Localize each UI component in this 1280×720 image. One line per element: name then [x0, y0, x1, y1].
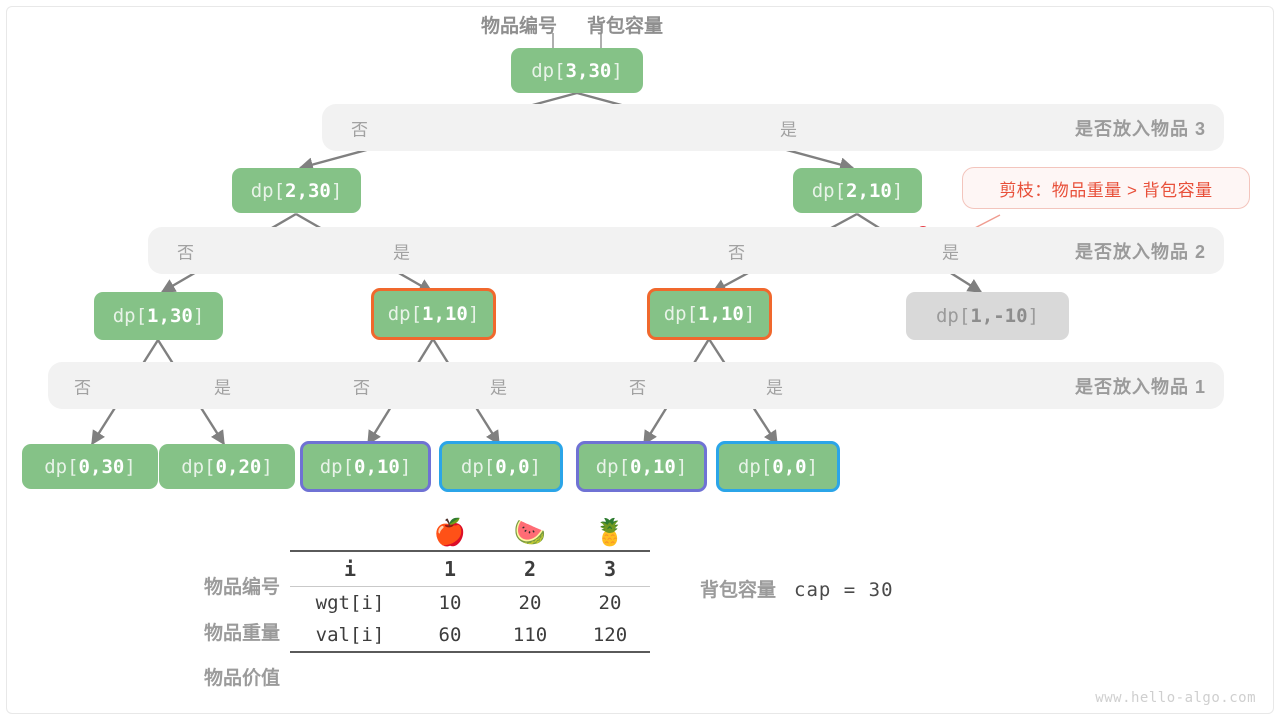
node-dp-2-30[interactable]: dp[2,30] — [232, 168, 361, 213]
node-i: 2 — [285, 180, 296, 202]
watermark: www.hello-algo.com — [1095, 690, 1256, 706]
pineapple-icon: 🍍 — [570, 520, 650, 551]
node-dp-1-10-left[interactable]: dp[1,10] — [371, 288, 496, 340]
node-sep: , — [857, 180, 868, 202]
node-sep: , — [227, 456, 238, 478]
node-c: 10 — [721, 303, 744, 325]
node-suffix: ] — [468, 303, 479, 325]
leaf-dp-0-30[interactable]: dp[0,30] — [22, 444, 158, 489]
table-row-val: val[i] 60 110 120 — [290, 619, 650, 652]
table-emoji-row: 🍎 🍉 🍍 — [290, 520, 650, 551]
node-sep: , — [641, 456, 652, 478]
node-c: 30 — [101, 456, 124, 478]
node-prefix: dp[ — [44, 456, 78, 478]
node-prefix: dp[ — [531, 60, 565, 82]
node-prefix: dp[ — [664, 303, 698, 325]
node-dp-1-neg10-pruned[interactable]: dp[1,-10] — [906, 292, 1069, 340]
items-table-wrap: 物品编号 物品重量 物品价值 🍎 🍉 🍍 i 1 2 3 wgt[ — [165, 520, 665, 653]
emoji-blank — [290, 520, 410, 551]
node-suffix: ] — [892, 180, 903, 202]
table-cell-i-3: 3 — [570, 551, 650, 587]
node-i: 0 — [772, 456, 783, 478]
leaf-dp-0-0-left[interactable]: dp[0,0] — [439, 441, 563, 492]
node-sep: , — [365, 456, 376, 478]
node-sep: , — [577, 60, 588, 82]
node-sep: , — [784, 456, 795, 478]
node-sep: , — [296, 180, 307, 202]
items-table: 🍎 🍉 🍍 i 1 2 3 wgt[i] 10 20 20 val — [290, 520, 650, 653]
capacity-note: 背包容量cap = 30 — [700, 575, 894, 602]
node-prefix: dp[ — [181, 456, 215, 478]
node-suffix: ] — [1028, 305, 1039, 327]
table-cell-val-3: 120 — [570, 619, 650, 652]
leaf-dp-0-0-right[interactable]: dp[0,0] — [716, 441, 840, 492]
table-row-wgt: wgt[i] 10 20 20 — [290, 587, 650, 620]
node-c: 10 — [653, 456, 676, 478]
node-dp-1-30[interactable]: dp[1,30] — [94, 292, 223, 340]
decision-band-item2: 否 是 否 是 是否放入物品 2 — [148, 227, 1224, 274]
band1-option-yes-2: 是 — [490, 373, 507, 398]
node-prefix: dp[ — [812, 180, 846, 202]
band2-option-yes-2: 是 — [942, 238, 959, 263]
table-row-label-value: 物品价值 — [165, 663, 280, 690]
node-sep: , — [90, 456, 101, 478]
node-prefix: dp[ — [936, 305, 970, 327]
node-prefix: dp[ — [251, 180, 285, 202]
node-suffix: ] — [261, 456, 272, 478]
node-suffix: ] — [400, 456, 411, 478]
table-cell-wgt-3: 20 — [570, 587, 650, 620]
band2-option-no-1: 否 — [177, 238, 194, 263]
node-suffix: ] — [530, 456, 541, 478]
node-c: 20 — [238, 456, 261, 478]
node-c: 30 — [308, 180, 331, 202]
node-prefix: dp[ — [113, 305, 147, 327]
leaf-dp-0-10-right[interactable]: dp[0,10] — [576, 441, 707, 492]
node-i: 0 — [216, 456, 227, 478]
node-suffix: ] — [331, 180, 342, 202]
node-c: 30 — [170, 305, 193, 327]
table-cell-wgt-2: 20 — [490, 587, 570, 620]
node-c: 10 — [445, 303, 468, 325]
node-sep: , — [709, 303, 720, 325]
node-prefix: dp[ — [596, 456, 630, 478]
node-sep: , — [433, 303, 444, 325]
label-item-index: 物品编号 — [481, 11, 557, 38]
node-c: 0 — [795, 456, 806, 478]
apple-icon: 🍎 — [410, 520, 490, 551]
node-sep: , — [158, 305, 169, 327]
node-i: 1 — [147, 305, 158, 327]
prune-callout-text: 剪枝：物品重量 > 背包容量 — [999, 176, 1212, 201]
capacity-note-expr: cap = 30 — [794, 579, 894, 601]
node-c: 0 — [518, 456, 529, 478]
node-i: 1 — [698, 303, 709, 325]
watermelon-icon: 🍉 — [490, 520, 570, 551]
node-i: 1 — [970, 305, 981, 327]
node-i: 0 — [354, 456, 365, 478]
band3-title: 是否放入物品 3 — [1075, 115, 1206, 141]
node-i: 0 — [495, 456, 506, 478]
table-key-val: val[i] — [290, 619, 410, 652]
node-i: 1 — [422, 303, 433, 325]
leaf-dp-0-20[interactable]: dp[0,20] — [159, 444, 295, 489]
node-suffix: ] — [124, 456, 135, 478]
node-prefix: dp[ — [388, 303, 422, 325]
table-cell-val-2: 110 — [490, 619, 570, 652]
band2-option-no-2: 否 — [728, 238, 745, 263]
band1-option-yes-1: 是 — [214, 373, 231, 398]
node-suffix: ] — [611, 60, 622, 82]
band3-option-yes: 是 — [780, 115, 797, 140]
band1-title: 是否放入物品 1 — [1075, 373, 1206, 399]
node-c: -10 — [993, 305, 1027, 327]
decision-band-item3: 否 是 是否放入物品 3 — [322, 104, 1224, 151]
diagram-canvas: 物品编号 背包容量 否 是 是否放入物品 3 否 是 否 是 是否放入物品 2 … — [0, 0, 1280, 720]
table-row-label-index: 物品编号 — [165, 572, 280, 599]
leaf-dp-0-10-left[interactable]: dp[0,10] — [300, 441, 431, 492]
table-cell-i-1: 1 — [410, 551, 490, 587]
node-i: 0 — [630, 456, 641, 478]
table-key-wgt: wgt[i] — [290, 587, 410, 620]
decision-band-item1: 否 是 否 是 否 是 是否放入物品 1 — [48, 362, 1224, 409]
node-c: 10 — [869, 180, 892, 202]
table-cell-wgt-1: 10 — [410, 587, 490, 620]
band1-option-yes-3: 是 — [766, 373, 783, 398]
table-key-i: i — [290, 551, 410, 587]
band1-option-no-2: 否 — [353, 373, 370, 398]
node-prefix: dp[ — [738, 456, 772, 478]
node-suffix: ] — [807, 456, 818, 478]
node-sep: , — [982, 305, 993, 327]
label-capacity: 背包容量 — [587, 11, 663, 38]
band2-option-yes-1: 是 — [393, 238, 410, 263]
node-dp-3-30[interactable]: dp[3,30] — [511, 48, 643, 93]
band1-option-no-3: 否 — [629, 373, 646, 398]
table-row-i: i 1 2 3 — [290, 551, 650, 587]
band1-option-no-1: 否 — [74, 373, 91, 398]
node-suffix: ] — [193, 305, 204, 327]
node-i: 3 — [566, 60, 577, 82]
node-dp-1-10-right[interactable]: dp[1,10] — [647, 288, 772, 340]
node-i: 0 — [79, 456, 90, 478]
node-suffix: ] — [676, 456, 687, 478]
node-dp-2-10[interactable]: dp[2,10] — [793, 168, 922, 213]
table-row-label-weight: 物品重量 — [165, 618, 280, 645]
node-c: 30 — [588, 60, 611, 82]
band3-option-no: 否 — [351, 115, 368, 140]
node-sep: , — [507, 456, 518, 478]
node-i: 2 — [846, 180, 857, 202]
table-cell-val-1: 60 — [410, 619, 490, 652]
capacity-note-label: 背包容量 — [700, 580, 776, 601]
node-prefix: dp[ — [461, 456, 495, 478]
node-prefix: dp[ — [320, 456, 354, 478]
node-suffix: ] — [744, 303, 755, 325]
prune-callout: 剪枝：物品重量 > 背包容量 — [962, 167, 1250, 209]
table-cell-i-2: 2 — [490, 551, 570, 587]
band2-title: 是否放入物品 2 — [1075, 238, 1206, 264]
node-c: 10 — [377, 456, 400, 478]
